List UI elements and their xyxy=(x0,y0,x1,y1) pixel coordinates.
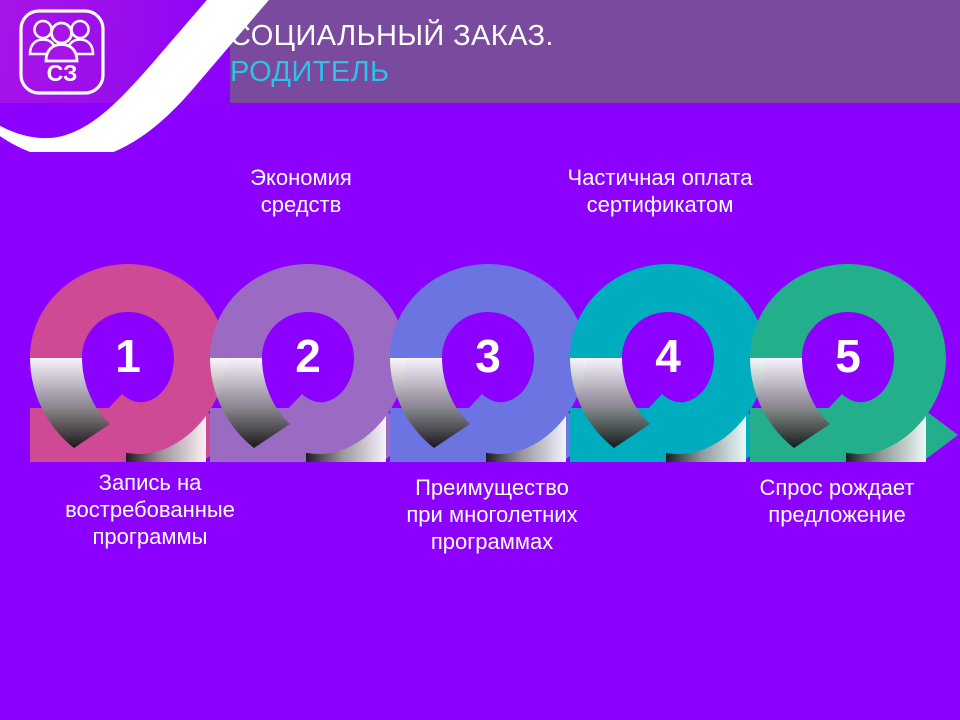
step-label-1-line2: востребованные xyxy=(28,496,272,523)
step-number-1: 1 xyxy=(115,330,141,382)
process-step-4[interactable]: 4 xyxy=(570,264,778,462)
step-label-2-line1: Экономия xyxy=(196,164,406,191)
step-label-4-line1: Частичная оплата xyxy=(520,164,800,191)
process-step-3[interactable]: 3 xyxy=(390,264,598,462)
step-number-5: 5 xyxy=(835,330,861,382)
step-label-1-line1: Запись на xyxy=(28,469,272,496)
slide-canvas: СЗ СОЦИАЛЬНЫЙ ЗАКАЗ. РОДИТЕЛЬ xyxy=(0,0,960,720)
step-label-1: Запись на востребованные программы xyxy=(28,469,272,550)
step-label-5-line2: предложение xyxy=(722,501,952,528)
header-title-line2: РОДИТЕЛЬ xyxy=(230,54,930,90)
step-number-4: 4 xyxy=(655,330,681,382)
step-label-2-line2: средств xyxy=(196,191,406,218)
step-label-5: Спрос рождает предложение xyxy=(722,474,952,528)
step-label-4-line2: сертификатом xyxy=(520,191,800,218)
step-label-5-line1: Спрос рождает xyxy=(722,474,952,501)
process-step-5[interactable]: 5 xyxy=(750,264,958,462)
step-number-2: 2 xyxy=(295,330,321,382)
process-diagram: 1 2 3 4 5 xyxy=(0,262,960,462)
process-step-1[interactable]: 1 xyxy=(30,264,238,462)
logo-abbreviation: СЗ xyxy=(47,60,78,86)
header-title: СОЦИАЛЬНЫЙ ЗАКАЗ. РОДИТЕЛЬ xyxy=(230,18,930,90)
step-label-3-line3: программах xyxy=(368,528,616,555)
step-label-3: Преимущество при многолетних программах xyxy=(368,474,616,555)
step-label-1-line3: программы xyxy=(28,523,272,550)
step-label-3-line1: Преимущество xyxy=(368,474,616,501)
process-step-2[interactable]: 2 xyxy=(210,264,418,462)
step-label-4: Частичная оплата сертификатом xyxy=(520,164,800,218)
step-label-3-line2: при многолетних xyxy=(368,501,616,528)
step-number-3: 3 xyxy=(475,330,501,382)
logo-badge: СЗ xyxy=(18,8,106,96)
header-title-line1: СОЦИАЛЬНЫЙ ЗАКАЗ. xyxy=(230,18,930,54)
step-label-2: Экономия средств xyxy=(196,164,406,218)
